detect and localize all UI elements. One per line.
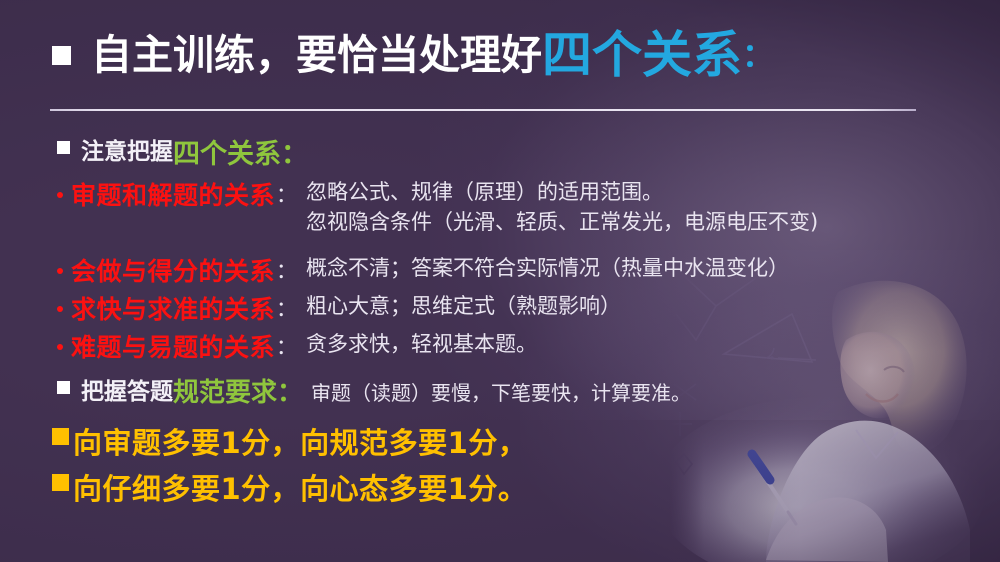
title-colon: ： [742,39,774,71]
note-emphasis-text: 四个关系： [173,132,308,171]
norm-line: 把握答题 规范要求： 审题（读题）要慢，下笔要快，计算要准。 [57,372,691,409]
relation-colon-1: ： [276,179,297,209]
title-main-text: 自主训练，要恰当处理好 [91,35,542,76]
relation-row-1: 审题和解题的关系 ： 忽略公式、规律（原理）的适用范围。 忽视隐含条件（光滑、轻… [57,176,818,238]
gold-line-text-2: 向仔细多要1分，向心态多要1分。 [73,466,527,508]
relation-label-4: 难题与易题的关系 [71,328,275,364]
gold-line-1: 向审题多要1分，向规范多要1分， [52,420,527,462]
relation-row-2: 会做与得分的关系 ： 概念不清；答案不符合实际情况（热量中水温变化） [57,252,789,288]
note-square-bullet-icon [57,141,70,154]
relation-label-2: 会做与得分的关系 [71,252,275,288]
norm-tail-text: 审题（读题）要慢，下笔要快，计算要准。 [311,377,691,406]
gold-square-bullet-icon-2 [52,474,69,491]
relation-dot-bullet-icon-4 [57,344,63,350]
title-square-bullet-icon [52,46,71,65]
relation-description-2: 概念不清；答案不符合实际情况（热量中水温变化） [306,254,789,284]
relation-colon-4: ： [276,331,297,361]
relation-dot-bullet-icon-1 [57,192,63,198]
norm-lead-text: 把握答题 [81,372,173,406]
presentation-slide: 自主训练，要恰当处理好 四个关系 ： 注意把握 四个关系： 审题和解题的关系 ：… [0,0,1000,562]
relation-description-4: 贪多求快，轻视基本题。 [306,330,537,360]
relation-colon-2: ： [276,255,297,285]
relation-description-1: 忽略公式、规律（原理）的适用范围。 忽视隐含条件（光滑、轻质、正常发光，电源电压… [306,178,818,238]
relation-row-4: 难题与易题的关系 ： 贪多求快，轻视基本题。 [57,328,537,364]
relation-label-3: 求快与求准的关系 [71,290,275,326]
relation-row-3: 求快与求准的关系 ： 粗心大意；思维定式（熟题影响） [57,290,621,326]
gold-line-2: 向仔细多要1分，向心态多要1分。 [52,466,527,508]
gold-line-text-1: 向审题多要1分，向规范多要1分， [73,420,527,462]
relation-dot-bullet-icon-3 [57,306,63,312]
slide-title: 自主训练，要恰当处理好 四个关系 ： [52,30,774,80]
relation-description-3: 粗心大意；思维定式（熟题影响） [306,292,621,322]
note-line: 注意把握 四个关系： [57,132,308,171]
title-divider [50,109,916,111]
note-lead-text: 注意把握 [81,132,173,166]
relation-label-1: 审题和解题的关系 [71,176,275,212]
gold-square-bullet-icon-1 [52,428,69,445]
norm-square-bullet-icon [57,381,70,394]
norm-emphasis-text: 规范要求： [173,372,303,409]
title-accent-text: 四个关系 [542,30,742,80]
relation-dot-bullet-icon-2 [57,268,63,274]
relation-colon-3: ： [276,293,297,323]
